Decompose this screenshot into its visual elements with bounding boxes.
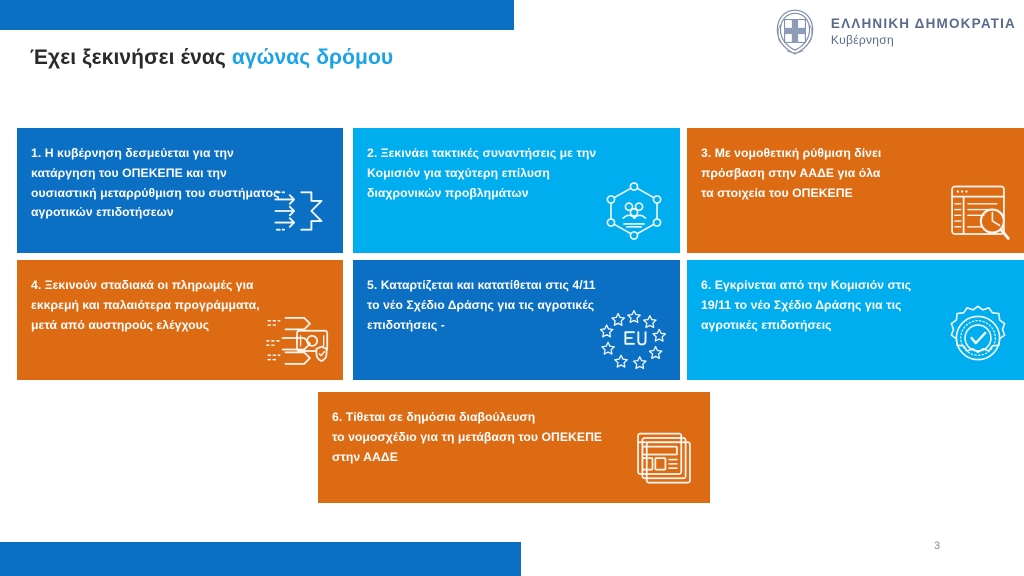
government-logo: ΕΛΛΗΝΙΚΗ ΔΗΜΟΚΡΑΤΙΑ Κυβέρνηση	[769, 6, 1016, 58]
card-5-text: 5. Καταρτίζεται και κατατίθεται στις 4/1…	[367, 276, 666, 335]
card-3-text: 3. Με νομοθετική ρύθμιση δίνει πρόσβαση …	[701, 144, 1010, 203]
card-4-text: 4. Ξεκινούν σταδιακά οι πληρωμές για εκκ…	[31, 276, 329, 335]
page-number: 3	[934, 540, 940, 552]
card-7[interactable]: 6. Τίθεται σε δημόσια διαβούλευση το νομ…	[318, 392, 710, 503]
logo-title: ΕΛΛΗΝΙΚΗ ΔΗΜΟΚΡΑΤΙΑ	[831, 16, 1016, 33]
card-6[interactable]: 6. Εγκρίνεται από την Κομισιόν στις 19/1…	[687, 260, 1024, 380]
page-title-accent: αγώνας δρόμου	[232, 46, 393, 69]
slide: Έχει ξεκινήσει ένας αγώνας δρόμου ΕΛΛΗΝΙ	[0, 0, 1024, 576]
page-title-plain: Έχει ξεκινήσει ένας	[30, 46, 232, 69]
card-7-text: 6. Τίθεται σε δημόσια διαβούλευση το νομ…	[332, 408, 696, 467]
top-accent-bar	[0, 0, 514, 30]
card-5[interactable]: 5. Καταρτίζεται και κατατίθεται στις 4/1…	[353, 260, 680, 380]
greek-coat-of-arms-icon	[769, 6, 821, 58]
card-1-text: 1. Η κυβέρνηση δεσμεύεται για την κατάργ…	[31, 144, 329, 223]
card-1[interactable]: 1. Η κυβέρνηση δεσμεύεται για την κατάργ…	[17, 128, 343, 253]
logo-subtitle: Κυβέρνηση	[831, 33, 1016, 48]
card-4[interactable]: 4. Ξεκινούν σταδιακά οι πληρωμές για εκκ…	[17, 260, 343, 380]
card-3[interactable]: 3. Με νομοθετική ρύθμιση δίνει πρόσβαση …	[687, 128, 1024, 253]
card-2[interactable]: 2. Ξεκινάει τακτικές συναντήσεις με την …	[353, 128, 680, 253]
logo-text: ΕΛΛΗΝΙΚΗ ΔΗΜΟΚΡΑΤΙΑ Κυβέρνηση	[831, 16, 1016, 48]
bottom-accent-bar	[0, 542, 521, 576]
card-6-text: 6. Εγκρίνεται από την Κομισιόν στις 19/1…	[701, 276, 1010, 335]
page-title: Έχει ξεκινήσει ένας αγώνας δρόμου	[30, 46, 393, 70]
card-2-text: 2. Ξεκινάει τακτικές συναντήσεις με την …	[367, 144, 666, 203]
